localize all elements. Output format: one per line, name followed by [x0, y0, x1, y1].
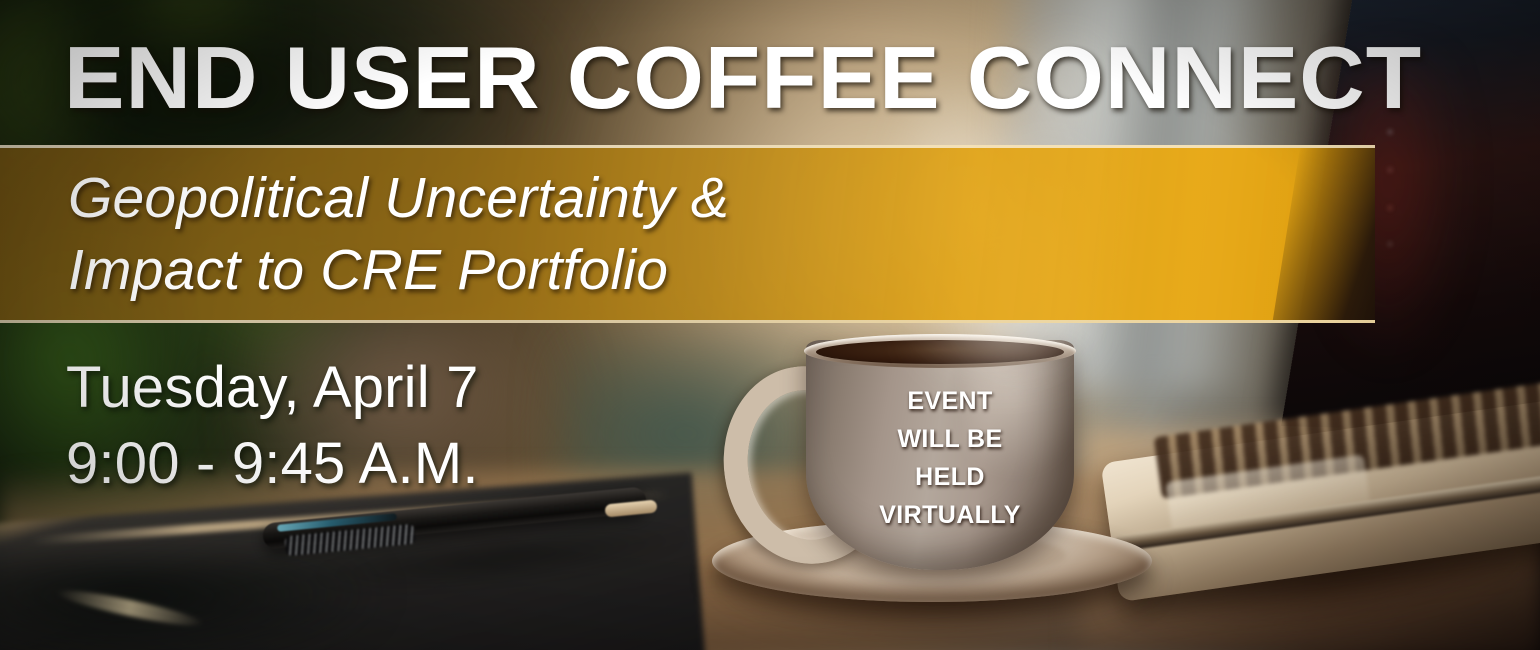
subtitle-line-1: Geopolitical Uncertainty & — [68, 162, 729, 234]
cup-notice-line-3: HELD — [850, 458, 1050, 496]
coffee-cup-group: EVENT WILL BE HELD VIRTUALLY — [700, 330, 1200, 650]
event-promo-banner: EVENT WILL BE HELD VIRTUALLY END USER CO… — [0, 0, 1540, 650]
cup-notice-line-1: EVENT — [850, 382, 1050, 420]
subtitle-line-2: Impact to CRE Portfolio — [68, 234, 729, 306]
laptop-screen-reflections — [1382, 124, 1398, 254]
event-time: 9:00 - 9:45 A.M. — [66, 426, 479, 502]
subtitle-block: Geopolitical Uncertainty & Impact to CRE… — [68, 162, 729, 306]
cup-notice-text: EVENT WILL BE HELD VIRTUALLY — [850, 382, 1050, 534]
headline-title: END USER COFFEE CONNECT — [64, 30, 1422, 126]
cup-notice-line-4: VIRTUALLY — [850, 496, 1050, 534]
coffee-surface — [816, 340, 1064, 364]
event-date: Tuesday, April 7 — [66, 350, 479, 426]
event-datetime-block: Tuesday, April 7 9:00 - 9:45 A.M. — [66, 350, 479, 502]
cup-notice-line-2: WILL BE — [850, 420, 1050, 458]
